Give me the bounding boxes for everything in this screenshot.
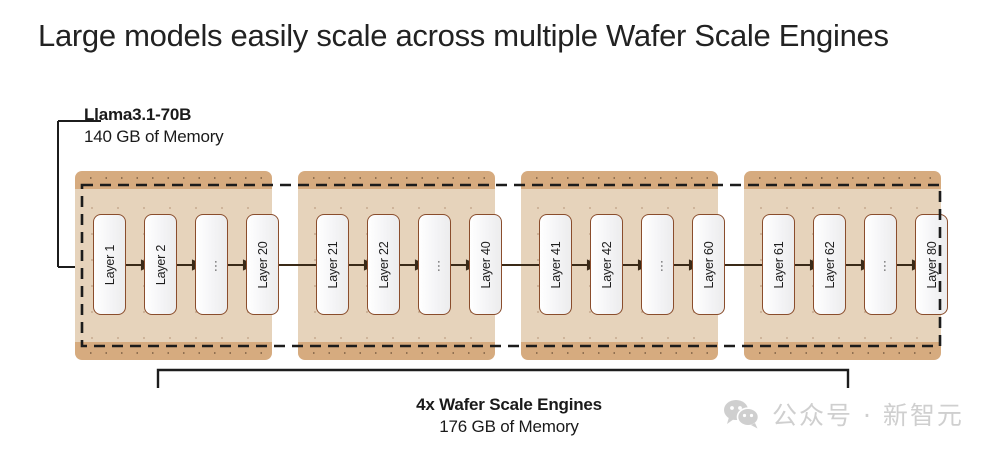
layer-label: Layer 2 <box>154 244 168 284</box>
layer-label: Layer 41 <box>549 241 563 288</box>
layer-label: Layer 21 <box>326 241 340 288</box>
layer-label: Layer 62 <box>823 241 837 288</box>
layer-box-ellipsis: … <box>418 214 451 315</box>
layer-box-ellipsis: … <box>641 214 674 315</box>
layer-box[interactable]: Layer 21 <box>316 214 349 315</box>
layer-box-ellipsis: … <box>864 214 897 315</box>
layer-ellipsis-label: … <box>650 257 665 272</box>
layer-label: Layer 22 <box>377 241 391 288</box>
layer-box[interactable]: Layer 80 <box>915 214 948 315</box>
layer-box[interactable]: Layer 41 <box>539 214 572 315</box>
layer-label: Layer 40 <box>479 241 493 288</box>
layer-box[interactable]: Layer 1 <box>93 214 126 315</box>
layer-box[interactable]: Layer 60 <box>692 214 725 315</box>
layer-ellipsis-label: … <box>427 257 442 272</box>
layer-ellipsis-label: … <box>204 257 219 272</box>
layer-box[interactable]: Layer 62 <box>813 214 846 315</box>
layer-box[interactable]: Layer 40 <box>469 214 502 315</box>
layer-box[interactable]: Layer 2 <box>144 214 177 315</box>
layer-box-ellipsis: … <box>195 214 228 315</box>
layer-label: Layer 60 <box>702 241 716 288</box>
layer-label: Layer 80 <box>925 241 939 288</box>
layer-box[interactable]: Layer 61 <box>762 214 795 315</box>
layer-label: Layer 42 <box>600 241 614 288</box>
layer-box[interactable]: Layer 42 <box>590 214 623 315</box>
layer-ellipsis-label: … <box>873 257 888 272</box>
layer-box[interactable]: Layer 22 <box>367 214 400 315</box>
layer-label: Layer 1 <box>103 244 117 284</box>
layer-label: Layer 20 <box>256 241 270 288</box>
layer-box[interactable]: Layer 20 <box>246 214 279 315</box>
layer-label: Layer 61 <box>772 241 786 288</box>
